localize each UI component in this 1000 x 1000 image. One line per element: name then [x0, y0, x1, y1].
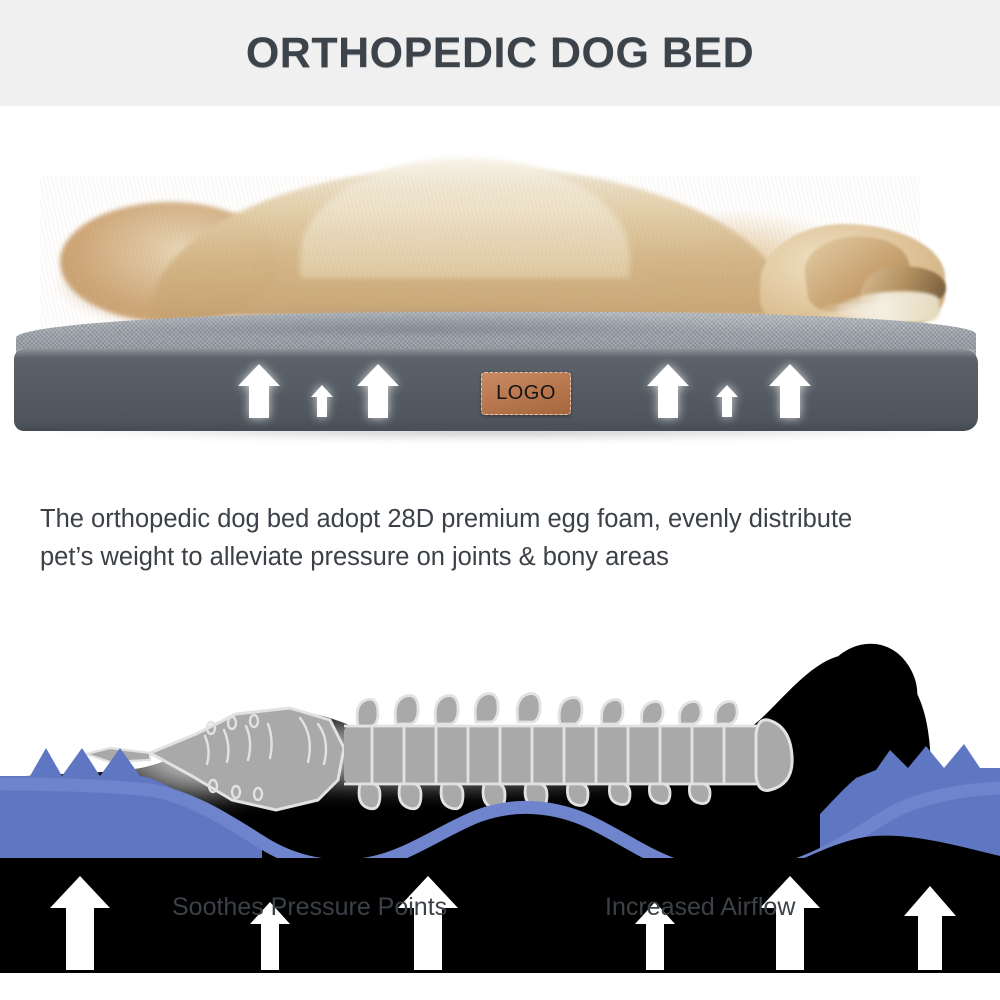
product-description: The orthopedic dog bed adopt 28D premium…: [40, 500, 990, 576]
product-infographic-page: ORTHOPEDIC DOG BED: [0, 0, 1000, 1000]
up-arrow-icon: [646, 363, 690, 419]
up-arrow-icon: [356, 363, 400, 419]
brand-logo-patch: LOGO: [481, 372, 571, 415]
product-photo: LOGO: [0, 106, 1000, 490]
label-increased-airflow: Increased Airflow: [605, 893, 795, 922]
bed-drop-shadow: [26, 428, 966, 442]
bed-base-highlight: [14, 349, 978, 358]
up-arrow-icon: [310, 384, 334, 418]
diagram-labels: Soothes Pressure Points Increased Airflo…: [0, 893, 1000, 943]
page-title: ORTHOPEDIC DOG BED: [246, 29, 754, 78]
header-banner: ORTHOPEDIC DOG BED: [0, 0, 1000, 106]
bed-plush-compression: [60, 308, 760, 334]
label-soothes-pressure-points: Soothes Pressure Points: [172, 893, 447, 922]
description-line-2: pet’s weight to alleviate pressure on jo…: [40, 538, 990, 576]
description-line-1: The orthopedic dog bed adopt 28D premium…: [40, 500, 990, 538]
up-arrow-icon: [768, 363, 812, 419]
logo-patch-label: LOGO: [496, 382, 556, 405]
up-arrow-icon: [715, 384, 739, 418]
up-arrow-icon: [237, 363, 281, 419]
